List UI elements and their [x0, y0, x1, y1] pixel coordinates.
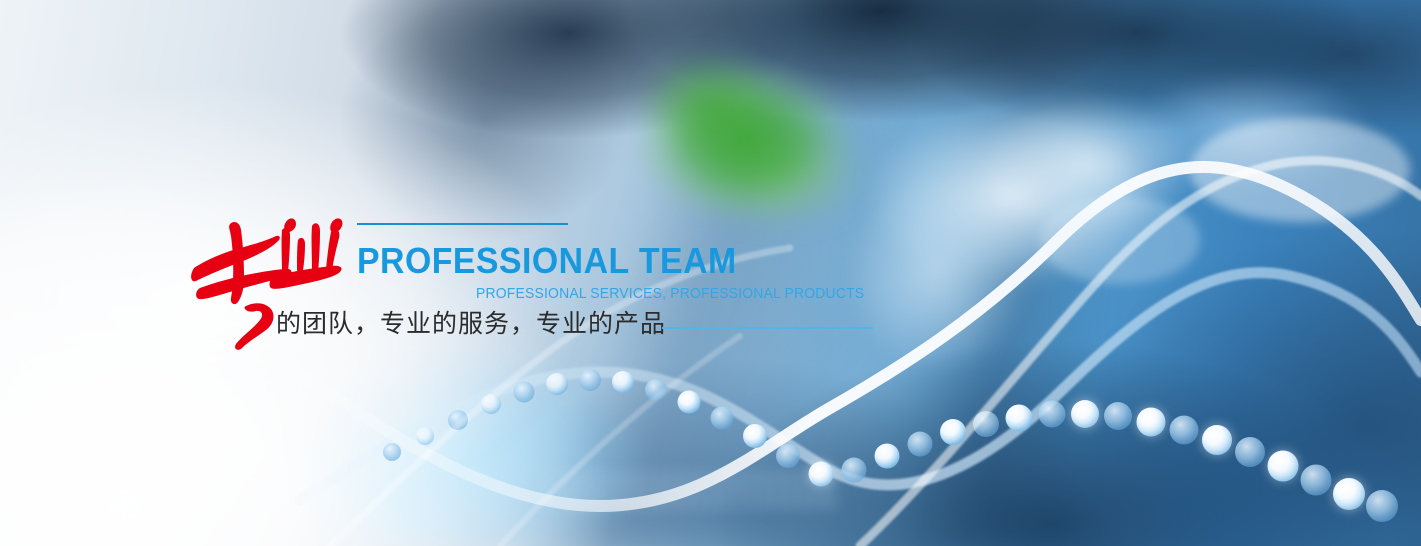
professional-team-banner: PROFESSIONAL TEAM PROFESSIONAL SERVICES,… [0, 0, 1421, 546]
decor-rule-bottom [662, 327, 873, 329]
decor-rule-top [357, 223, 568, 225]
banner-text-block: PROFESSIONAL TEAM PROFESSIONAL SERVICES,… [0, 0, 1421, 546]
headline-professional-team: PROFESSIONAL TEAM [357, 243, 737, 279]
subheadline-services-products: PROFESSIONAL SERVICES, PROFESSIONAL PROD… [476, 286, 864, 301]
chinese-tagline: 的团队，专业的服务，专业的产品 [276, 308, 666, 339]
